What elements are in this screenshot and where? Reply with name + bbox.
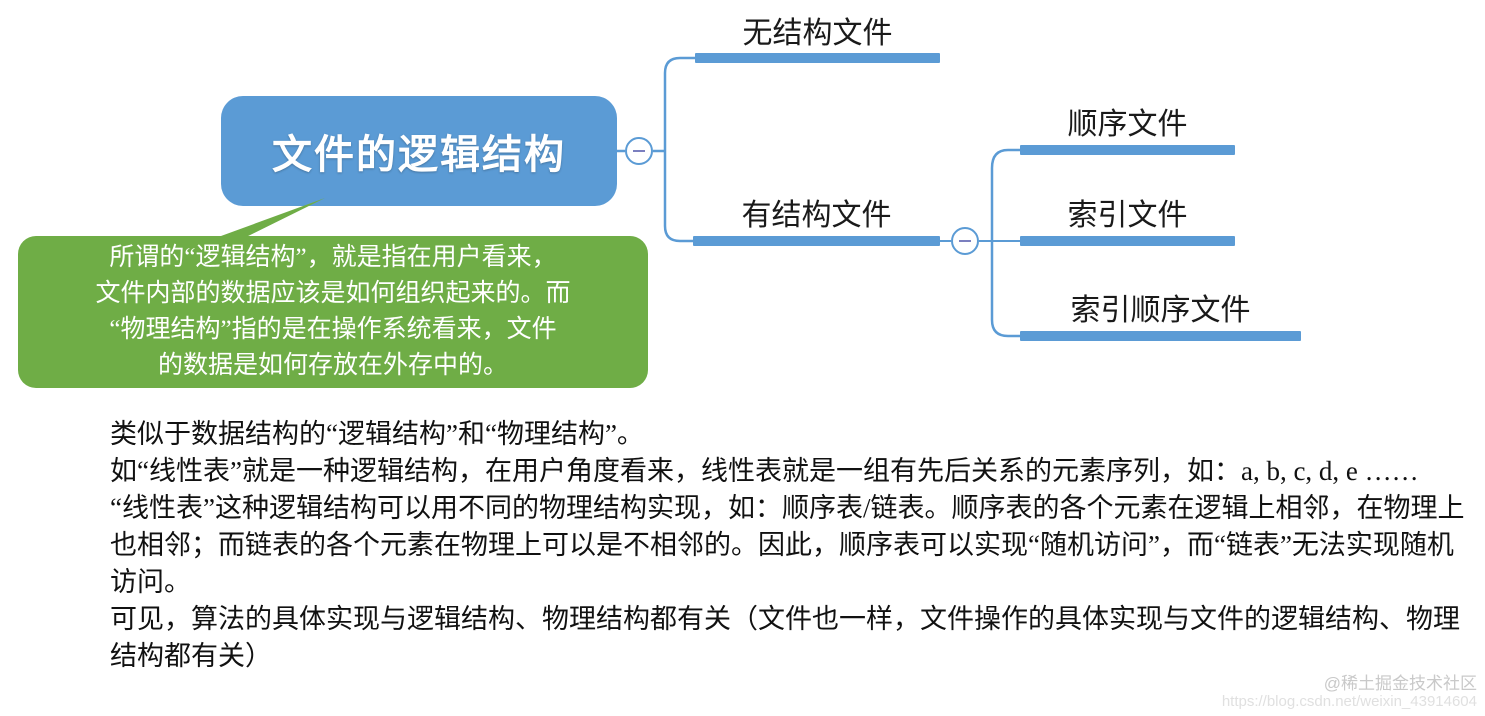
callout-text: 所谓的“逻辑结构”，就是指在用户看来， 文件内部的数据应该是如何组织起来的。而 … [81,240,584,384]
callout-tail [180,182,340,242]
mindmap-node-index-sequential-file[interactable]: 索引顺序文件 [1020,285,1301,329]
mindmap-root-label: 文件的逻辑结构 [272,122,566,180]
mindmap-node-structured[interactable]: 有结构文件 [693,190,940,234]
body-text-block: 类似于数据结构的“逻辑结构”和“物理结构”。 如“线性表”就是一种逻辑结构，在用… [110,416,1470,675]
branch-bar-index [1020,236,1235,246]
body-paragraph-3: “线性表”这种逻辑结构可以用不同的物理结构实现，如：顺序表/链表。顺序表的各个元… [110,490,1470,601]
watermark-url: https://blog.csdn.net/weixin_43914604 [1222,693,1477,710]
mindmap-node-unstructured[interactable]: 无结构文件 [695,8,940,52]
branch-bar-structured [693,236,940,246]
branch-bar-sequential [1020,145,1235,155]
mindmap-node-sequential-file[interactable]: 顺序文件 [1020,99,1235,143]
mindmap-node-index-file[interactable]: 索引文件 [1020,190,1235,234]
branch-bar-index-sequential [1020,331,1301,341]
mindmap-diagram: 文件的逻辑结构 无结构文件 有结构文件 顺序文件 索引文件 索引顺序文件 所谓的… [0,0,1485,400]
connector-level1-trunk [665,58,695,241]
body-paragraph-1: 类似于数据结构的“逻辑结构”和“物理结构”。 [110,416,1470,453]
collapse-toggle-root[interactable] [625,137,653,165]
callout-box: 所谓的“逻辑结构”，就是指在用户看来， 文件内部的数据应该是如何组织起来的。而 … [18,236,648,388]
body-paragraph-2: 如“线性表”就是一种逻辑结构，在用户角度看来，线性表就是一组有先后关系的元素序列… [110,453,1470,490]
collapse-toggle-structured[interactable] [951,227,979,255]
body-paragraph-4: 可见，算法的具体实现与逻辑结构、物理结构都有关（文件也一样，文件操作的具体实现与… [110,601,1470,675]
connector-level2-fan [992,150,1020,336]
branch-bar-unstructured [695,53,940,63]
watermark-brand: @稀土掘金技术社区 [1222,674,1477,693]
watermark: @稀土掘金技术社区 https://blog.csdn.net/weixin_4… [1222,674,1477,710]
